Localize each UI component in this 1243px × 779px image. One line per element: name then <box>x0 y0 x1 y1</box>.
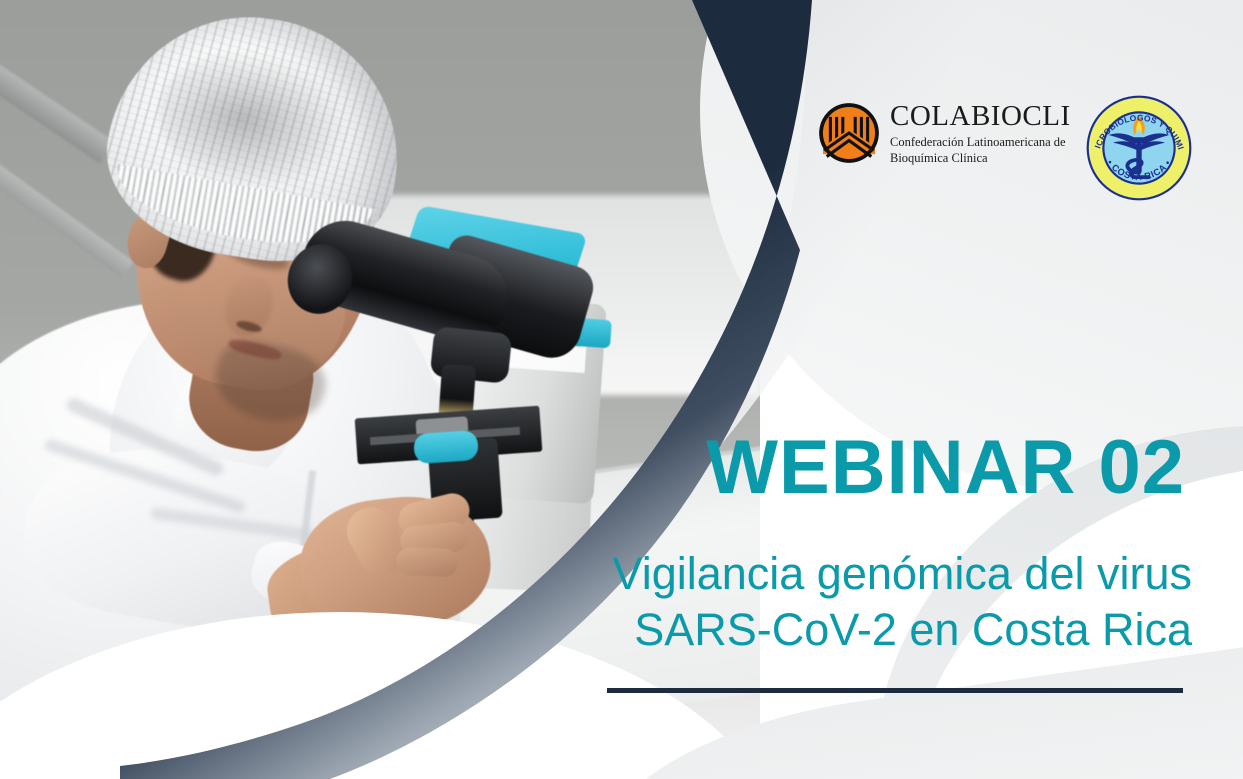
colabiocli-name: COLABIOCLI <box>890 102 1071 131</box>
technician-finger <box>396 547 459 577</box>
colabiocli-subtitle: Confederación Latinoamericana de Bioquím… <box>890 135 1071 166</box>
webinar-poster: Model MC-500 de manual No. Lentes Instal… <box>0 0 1243 779</box>
colabiocli-subtitle-line-2: Bioquímica Clínica <box>890 151 1071 167</box>
colabiocli-text-block: COLABIOCLI Confederación Latinoamericana… <box>890 100 1071 166</box>
colabiocli-subtitle-line-1: Confederación Latinoamericana de <box>890 135 1071 151</box>
microscope-blue-knob <box>413 430 479 464</box>
decorative-swoosh-top <box>700 0 1243 490</box>
logo-row: COLABIOCLI Confederación Latinoamericana… <box>818 100 1193 202</box>
colegio-microbiologos-seal-icon: COLEGIO DE MICROBIOLOGOS Y QUIMICOS CLIN… <box>1085 94 1193 202</box>
colabiocli-logo: COLABIOCLI Confederación Latinoamericana… <box>818 100 1071 166</box>
colabiocli-logo-icon <box>818 102 880 164</box>
